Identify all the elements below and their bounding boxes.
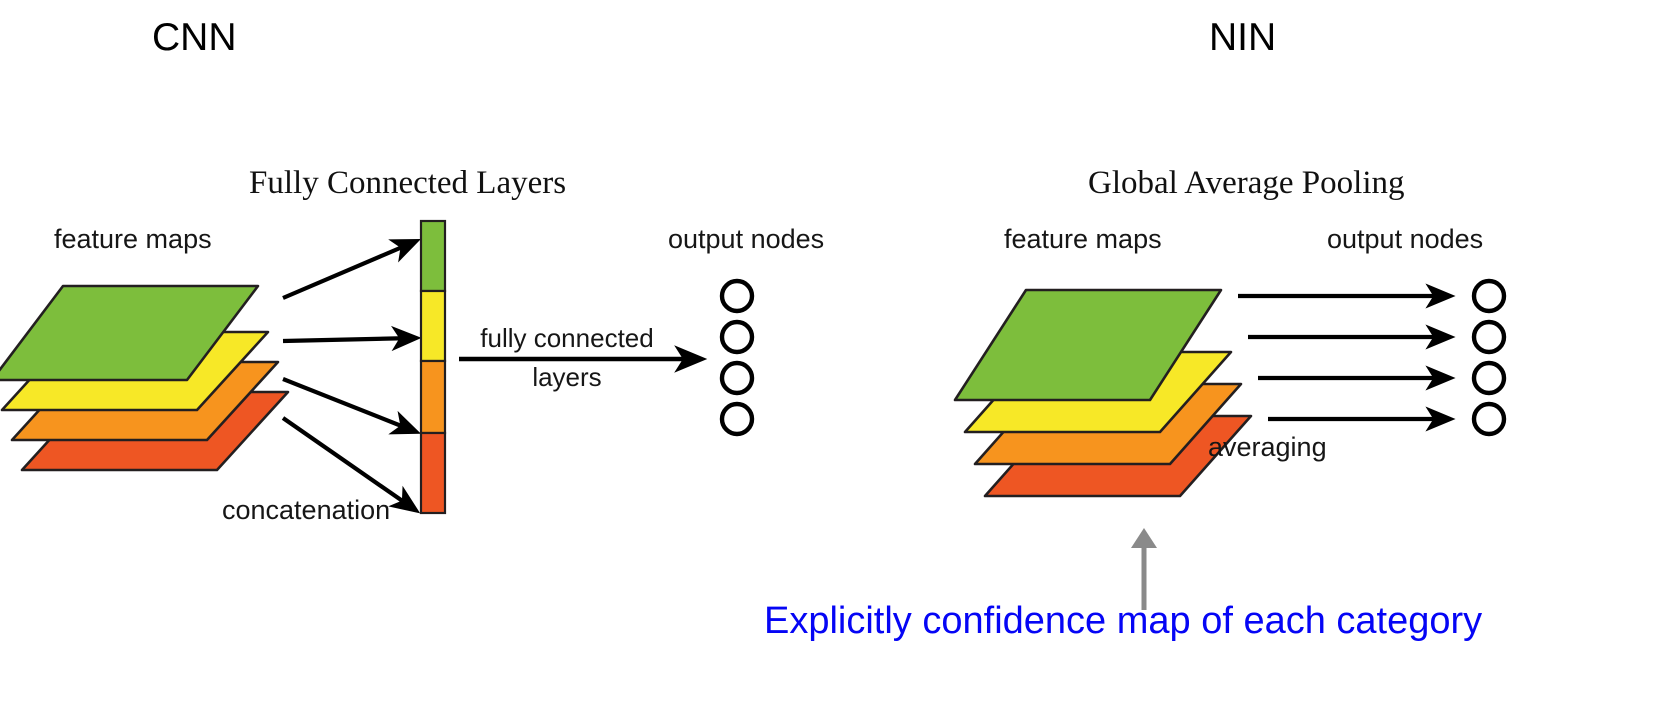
output-node — [1474, 363, 1504, 393]
diagram-canvas: CNN NIN Fully Connected Layers Global Av… — [0, 0, 1666, 710]
concat-segment-green — [421, 221, 445, 291]
output-node — [722, 363, 752, 393]
cnn-output-nodes — [708, 278, 768, 438]
cnn-panel-title: CNN — [152, 16, 237, 60]
concatenation-label: concatenation — [222, 495, 390, 526]
global-average-pooling-header: Global Average Pooling — [1088, 165, 1405, 202]
concat-arrow-2 — [283, 338, 414, 341]
cnn-concatenation-arrows — [262, 228, 442, 518]
output-node — [1474, 404, 1504, 434]
output-node — [722, 404, 752, 434]
fully-connected-arrow — [455, 336, 720, 384]
output-node — [722, 281, 752, 311]
caption-text: Explicitly confidence map of each catego… — [764, 600, 1482, 643]
nin-feature-map-stack — [952, 270, 1272, 530]
output-node — [722, 322, 752, 352]
concat-segment-orange — [421, 361, 445, 433]
averaging-label: averaging — [1208, 432, 1327, 463]
concatenation-bar — [418, 218, 452, 518]
output-node — [1474, 322, 1504, 352]
nin-feature-maps-label: feature maps — [1004, 224, 1162, 255]
nin-output-nodes-label: output nodes — [1327, 224, 1483, 255]
nin-averaging-arrows — [1238, 278, 1473, 438]
concat-arrow-3 — [283, 379, 414, 431]
fully-connected-layers-header: Fully Connected Layers — [249, 165, 566, 202]
concat-arrow-1 — [283, 242, 414, 298]
nin-panel-title: NIN — [1209, 16, 1276, 60]
concat-segment-yellow — [421, 291, 445, 361]
concat-segment-red — [421, 433, 445, 513]
cnn-feature-maps-label: feature maps — [54, 224, 212, 255]
nin-output-nodes — [1464, 278, 1524, 438]
output-node — [1474, 281, 1504, 311]
cnn-output-nodes-label: output nodes — [668, 224, 824, 255]
